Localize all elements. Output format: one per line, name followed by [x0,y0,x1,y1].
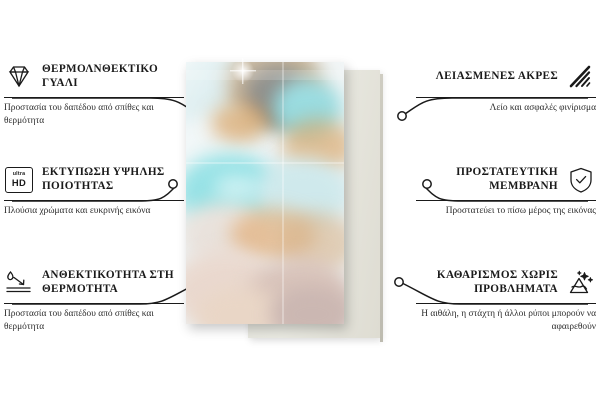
divider [4,200,184,201]
ultra-hd-icon: ultra HD [4,165,34,195]
feature-title: ΚΑΘΑΡΙΣΜΟΣ ΧΩΡΙΣ ΠΡΟΒΛΗΜΑΤΑ [416,269,558,296]
feature-description: Προστασία του δαπέδου από σπίθες και θερ… [4,308,184,335]
feature-title: ΠΡΟΣΤΑΤΕΥΤΙΚΗ ΜΕΜΒΡΑΝΗ [416,166,558,193]
feature-description: Λείο και ασφαλές φινίρισμα [416,102,596,115]
feature-callout-high-quality-print: ultra HD ΕΚΤΥΠΩΣΗ ΥΨΗΛΗΣ ΠΟΙΟΤΗΤΑΣ Πλούσ… [4,163,184,218]
feature-title: ΑΝΘΕΚΤΙΚΟΤΗΤΑ ΣΤΗ ΘΕΡΜΟΤΗΤΑ [42,269,184,296]
feature-callout-heat-proof-glass: ΘΕΡΜΟΛΝΘΕΚΤΙΚΟ ΓΥΑΛΙ Προστασία του δαπέδ… [4,60,184,129]
shield-check-icon [566,165,596,195]
heat-resistance-icon [4,268,34,298]
feature-callout-easy-cleaning: ΚΑΘΑΡΙΣΜΟΣ ΧΩΡΙΣ ΠΡΟΒΛΗΜΑΤΑ Η αιθάλη, η … [416,266,596,335]
divider [4,97,184,98]
feature-description: Πλούσια χρώματα και ευκρινής εικόνα [4,205,184,218]
divider [416,97,596,98]
glass-panel [186,62,344,324]
feature-callout-protective-film: ΠΡΟΣΤΑΤΕΥΤΙΚΗ ΜΕΜΒΡΑΝΗ Προστατεύει το πί… [416,163,596,218]
feature-description: Προστατεύει το πίσω μέρος της εικόνας [416,205,596,218]
feature-title: ΛΕΙΑΣΜΕΝΕΣ ΑΚΡΕΣ [416,70,558,84]
feature-description: Προστασία του δαπέδου από σπίθες και θερ… [4,102,184,129]
divider [4,303,184,304]
feature-callout-heat-resistance: ΑΝΘΕΚΤΙΚΟΤΗΤΑ ΣΤΗ ΘΕΡΜΟΤΗΤΑ Προστασία το… [4,266,184,335]
marble-artwork [186,62,344,324]
smooth-edges-icon [566,62,596,92]
feature-description: Η αιθάλη, η στάχτη ή άλλοι ρύποι μπορούν… [416,308,596,335]
easy-clean-icon [566,268,596,298]
diamond-icon [4,62,34,92]
divider [416,200,596,201]
feature-callout-smooth-edges: ΛΕΙΑΣΜΕΝΕΣ ΑΚΡΕΣ Λείο και ασφαλές φινίρι… [416,60,596,115]
divider [416,303,596,304]
product-image [186,62,404,350]
infographic-canvas: ΘΕΡΜΟΛΝΘΕΚΤΙΚΟ ΓΥΑΛΙ Προστασία του δαπέδ… [0,0,600,400]
feature-title: ΕΚΤΥΠΩΣΗ ΥΨΗΛΗΣ ΠΟΙΟΤΗΤΑΣ [42,166,184,193]
feature-title: ΘΕΡΜΟΛΝΘΕΚΤΙΚΟ ΓΥΑΛΙ [42,63,184,90]
hd-badge-large: HD [12,178,26,187]
